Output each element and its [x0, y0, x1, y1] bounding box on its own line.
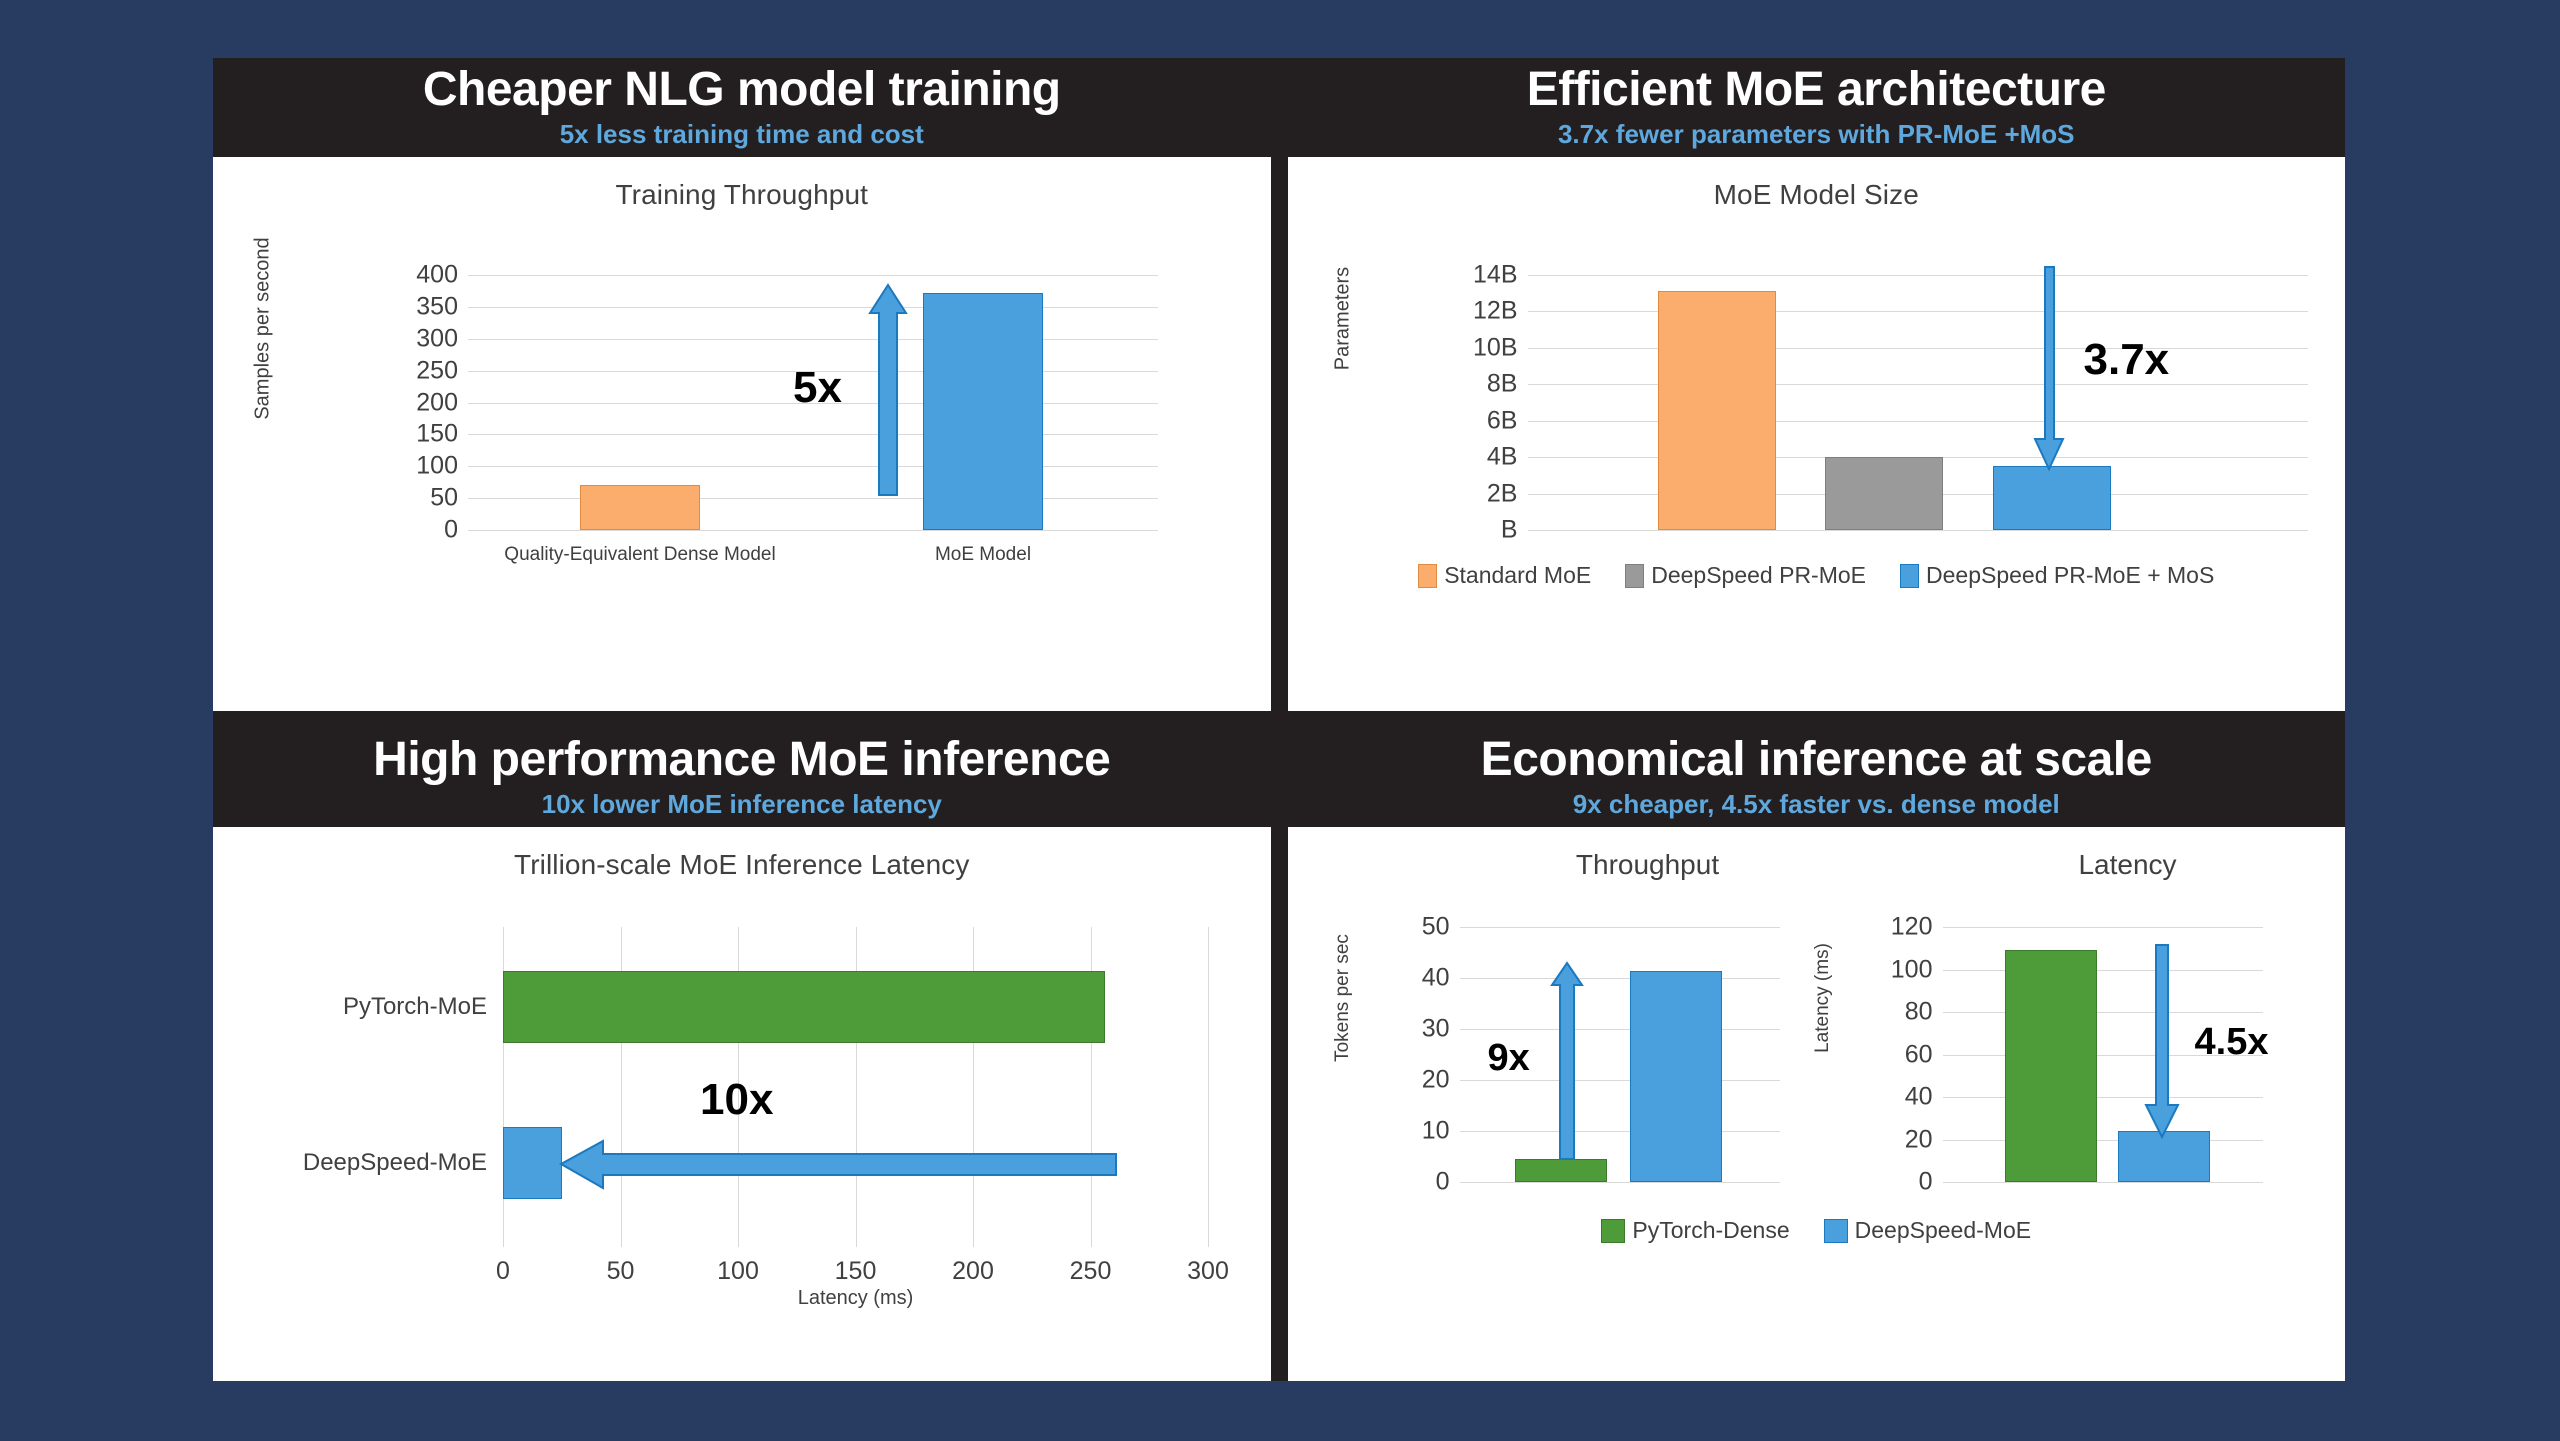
- ytick-6B: 6B: [1487, 406, 1518, 435]
- ytick-lat-100: 100: [1891, 955, 1933, 984]
- bar-deepspeed-moe: [503, 1127, 562, 1199]
- ytick-lat-120: 120: [1891, 913, 1933, 942]
- chart-title-latency: Latency: [1908, 849, 2346, 881]
- annotation-label-5x: 5x: [793, 363, 842, 413]
- ytick-lat-60: 60: [1905, 1040, 1933, 1069]
- legend-label-deepspeed-moe: DeepSpeed-MoE: [1855, 1217, 2031, 1244]
- ytick-tp-40: 40: [1422, 964, 1450, 993]
- quadrant-cheaper-nlg-model-training: Cheaper NLG model training 5x less train…: [213, 58, 1271, 711]
- ytick-lat-80: 80: [1905, 998, 1933, 1027]
- xtick-200: 200: [952, 1257, 994, 1286]
- quadrant-4-body: Throughput Latency Tokens per sec 0 10 2…: [1288, 827, 2346, 1381]
- ytick-tp-50: 50: [1422, 913, 1450, 942]
- xtick-300: 300: [1187, 1257, 1229, 1286]
- chart-title-training-throughput: Training Throughput: [213, 157, 1271, 211]
- annotation-arrow-4-5x: [2138, 945, 2194, 1141]
- xtick-150: 150: [835, 1257, 877, 1286]
- xtick-0: 0: [496, 1257, 510, 1286]
- y-axis-label-latency-ms: Latency (ms): [1812, 888, 1834, 1108]
- quadrant-3-body: Trillion-scale MoE Inference Latency 0 5…: [213, 827, 1271, 1381]
- y-axis-label-tokens-per-sec: Tokens per sec: [1332, 888, 1354, 1108]
- ytick-tp-20: 20: [1422, 1066, 1450, 1095]
- chart-title-moe-model-size: MoE Model Size: [1288, 157, 2346, 211]
- legend-swatch-green-icon: [1601, 1219, 1625, 1243]
- xtick-250: 250: [1070, 1257, 1112, 1286]
- annotation-arrow-3-7x: [2023, 267, 2083, 477]
- chart-title-throughput: Throughput: [1428, 849, 1868, 881]
- quadrant-2-subtitle: 3.7x fewer parameters with PR-MoE +MoS: [1288, 119, 2346, 150]
- ytick-150: 150: [416, 420, 458, 449]
- ytick-100: 100: [416, 452, 458, 481]
- legend-moe-model-size: Standard MoE DeepSpeed PR-MoE DeepSpeed …: [1288, 562, 2346, 589]
- ytick-lat-40: 40: [1905, 1083, 1933, 1112]
- annotation-arrow-5x: [868, 285, 928, 535]
- legend-label-standard-moe: Standard MoE: [1444, 562, 1591, 589]
- quadrant-1-body: Training Throughput Samples per second 0…: [213, 157, 1271, 711]
- legend-item-standard-moe: Standard MoE: [1418, 562, 1591, 589]
- plot-area-training-throughput: 0 50 100 150 200 250 300 350 400 Quality…: [468, 275, 1158, 530]
- ytick-8B: 8B: [1487, 370, 1518, 399]
- ytick-B: B: [1501, 516, 1518, 545]
- annotation-label-10x: 10x: [700, 1075, 773, 1125]
- ytick-200: 200: [416, 388, 458, 417]
- quadrant-economical-inference-at-scale: Economical inference at scale 9x cheaper…: [1288, 728, 2346, 1381]
- ytick-400: 400: [416, 261, 458, 290]
- annotation-label-4-5x: 4.5x: [2195, 1021, 2269, 1064]
- bar-standard-moe: [1658, 291, 1776, 530]
- legend-label-deepspeed-pr-moe-mos: DeepSpeed PR-MoE + MoS: [1926, 562, 2214, 589]
- legend-item-pytorch-dense: PyTorch-Dense: [1601, 1217, 1789, 1244]
- ytick-300: 300: [416, 324, 458, 353]
- annotation-label-9x: 9x: [1488, 1037, 1530, 1080]
- ytick-tp-10: 10: [1422, 1117, 1450, 1146]
- ytick-4B: 4B: [1487, 443, 1518, 472]
- quadrant-high-performance-moe-inference: High performance MoE inference 10x lower…: [213, 728, 1271, 1381]
- ytick-tp-0: 0: [1436, 1168, 1450, 1197]
- quadrant-3-title: High performance MoE inference: [213, 734, 1271, 786]
- quadrant-1-title: Cheaper NLG model training: [213, 64, 1271, 116]
- category-label-pytorch-moe: PyTorch-MoE: [343, 993, 487, 1021]
- bar-throughput-deepspeed-moe: [1630, 971, 1722, 1182]
- category-label-moe-model: MoE Model: [935, 544, 1031, 566]
- quadrant-efficient-moe-architecture: Efficient MoE architecture 3.7x fewer pa…: [1288, 58, 2346, 711]
- category-label-dense-model: Quality-Equivalent Dense Model: [504, 544, 775, 566]
- legend-swatch-blue-icon: [1900, 564, 1919, 588]
- ytick-10B: 10B: [1473, 333, 1517, 362]
- bar-moe-model: [923, 293, 1043, 530]
- ytick-14B: 14B: [1473, 261, 1517, 290]
- ytick-250: 250: [416, 356, 458, 385]
- ytick-50: 50: [430, 484, 458, 513]
- legend-item-deepspeed-pr-moe-mos: DeepSpeed PR-MoE + MoS: [1900, 562, 2214, 589]
- xtick-100: 100: [717, 1257, 759, 1286]
- annotation-label-3-7x: 3.7x: [2084, 335, 2170, 385]
- bar-quality-equivalent-dense-model: [580, 485, 700, 530]
- plot-area-throughput: 0 10 20 30 40 50 9x: [1460, 927, 1780, 1182]
- legend-swatch-gray-icon: [1625, 564, 1644, 588]
- xtick-50: 50: [607, 1257, 635, 1286]
- annotation-arrow-10x: [561, 1133, 1116, 1195]
- quadrant-2-header: Efficient MoE architecture 3.7x fewer pa…: [1288, 58, 2346, 157]
- bar-latency-pytorch-dense: [2005, 950, 2097, 1182]
- quadrant-1-subtitle: 5x less training time and cost: [213, 119, 1271, 150]
- ytick-lat-20: 20: [1905, 1125, 1933, 1154]
- legend-item-deepspeed-moe: DeepSpeed-MoE: [1824, 1217, 2031, 1244]
- quadrant-4-title: Economical inference at scale: [1288, 734, 2346, 786]
- legend-economical-inference: PyTorch-Dense DeepSpeed-MoE: [1288, 1217, 2346, 1244]
- x-axis-label-latency-ms: Latency (ms): [798, 1287, 914, 1310]
- quadrant-4-subtitle: 9x cheaper, 4.5x faster vs. dense model: [1288, 789, 2346, 820]
- ytick-lat-0: 0: [1919, 1168, 1933, 1197]
- quadrant-4-header: Economical inference at scale 9x cheaper…: [1288, 728, 2346, 827]
- category-label-deepspeed-moe: DeepSpeed-MoE: [303, 1149, 487, 1177]
- legend-label-pytorch-dense: PyTorch-Dense: [1632, 1217, 1789, 1244]
- quadrant-2-body: MoE Model Size Parameters B 2B 4B 6B 8B …: [1288, 157, 2346, 711]
- plot-area-trillion-scale-latency: 0 50 100 150 200 250 300 PyTorch-MoE Dee…: [503, 927, 1208, 1247]
- infographic-board: Cheaper NLG model training 5x less train…: [213, 58, 2345, 1381]
- chart-title-trillion-scale-latency: Trillion-scale MoE Inference Latency: [213, 827, 1271, 881]
- y-axis-label-samples-per-second: Samples per second: [252, 219, 275, 439]
- legend-item-deepspeed-pr-moe: DeepSpeed PR-MoE: [1625, 562, 1866, 589]
- bar-pytorch-moe: [503, 971, 1105, 1043]
- ytick-350: 350: [416, 292, 458, 321]
- legend-swatch-blue-icon-2: [1824, 1219, 1848, 1243]
- ytick-2B: 2B: [1487, 479, 1518, 508]
- annotation-arrow-9x: [1548, 963, 1598, 1171]
- bar-deepspeed-pr-moe: [1825, 457, 1943, 530]
- quadrant-2-title: Efficient MoE architecture: [1288, 64, 2346, 116]
- quadrant-3-header: High performance MoE inference 10x lower…: [213, 728, 1271, 827]
- legend-swatch-orange-icon: [1418, 564, 1437, 588]
- quadrant-1-header: Cheaper NLG model training 5x less train…: [213, 58, 1271, 157]
- plot-area-latency: 0 20 40 60 80 100 120 4.5x: [1943, 927, 2263, 1182]
- ytick-0: 0: [444, 516, 458, 545]
- ytick-tp-30: 30: [1422, 1015, 1450, 1044]
- legend-label-deepspeed-pr-moe: DeepSpeed PR-MoE: [1651, 562, 1866, 589]
- ytick-12B: 12B: [1473, 297, 1517, 326]
- quadrant-3-subtitle: 10x lower MoE inference latency: [213, 789, 1271, 820]
- y-axis-label-parameters: Parameters: [1331, 219, 1354, 419]
- plot-area-moe-model-size: B 2B 4B 6B 8B 10B 12B 14B 3.7x: [1528, 275, 2308, 530]
